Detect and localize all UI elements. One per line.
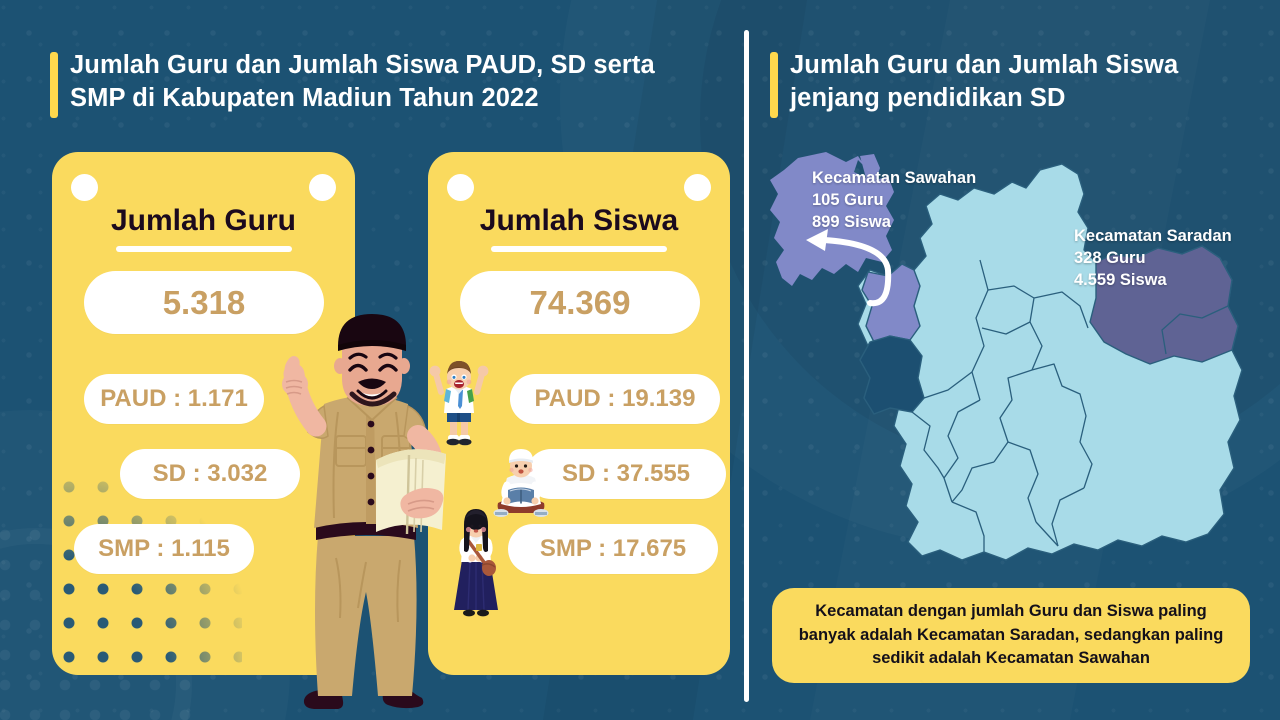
map-caption: Kecamatan dengan jumlah Guru dan Siswa p… [772,588,1250,683]
map-label-saradan-name: Kecamatan Saradan [1074,226,1232,248]
card-siswa-title: Jumlah Siswa [428,204,730,238]
title-accent-bar [770,52,778,118]
map-label-sawahan: Kecamatan Sawahan 105 Guru 899 Siswa [812,168,976,234]
punch-hole-icon [684,174,711,201]
card-guru-title: Jumlah Guru [52,204,355,238]
title-accent-bar [50,52,58,118]
card-title-underline [116,246,292,252]
siswa-paud-value: PAUD : 19.139 [510,374,720,424]
map-label-saradan: Kecamatan Saradan 328 Guru 4.559 Siswa [1074,226,1232,292]
map-label-sawahan-siswa: 899 Siswa [812,212,976,234]
punch-hole-icon [309,174,336,201]
right-panel-title: Jumlah Guru dan Jumlah Siswa jenjang pen… [790,49,1230,114]
map-label-sawahan-name: Kecamatan Sawahan [812,168,976,190]
left-panel-title: Jumlah Guru dan Jumlah Siswa PAUD, SD se… [70,49,710,114]
teacher-illustration [276,308,486,718]
right-panel-title-text: Jumlah Guru dan Jumlah Siswa jenjang pen… [790,51,1178,112]
guru-paud-value: PAUD : 1.171 [84,374,264,424]
punch-hole-icon [71,174,98,201]
map-label-saradan-guru: 328 Guru [1074,248,1232,270]
guru-sd-value: SD : 3.032 [120,449,300,499]
map-label-sawahan-guru: 105 Guru [812,190,976,212]
card-title-underline [491,246,667,252]
siswa-total-value: 74.369 [460,271,700,334]
map-container: Kecamatan Sawahan 105 Guru 899 Siswa Kec… [762,150,1262,570]
punch-hole-icon [447,174,474,201]
map-label-saradan-siswa: 4.559 Siswa [1074,270,1232,292]
siswa-sd-value: SD : 37.555 [526,449,726,499]
vertical-divider [744,30,749,702]
guru-smp-value: SMP : 1.115 [74,524,254,574]
left-panel-title-text: Jumlah Guru dan Jumlah Siswa PAUD, SD se… [70,51,655,112]
siswa-smp-value: SMP : 17.675 [508,524,718,574]
infographic-canvas: Jumlah Guru dan Jumlah Siswa PAUD, SD se… [0,0,1280,720]
map-region-dark [860,336,924,414]
